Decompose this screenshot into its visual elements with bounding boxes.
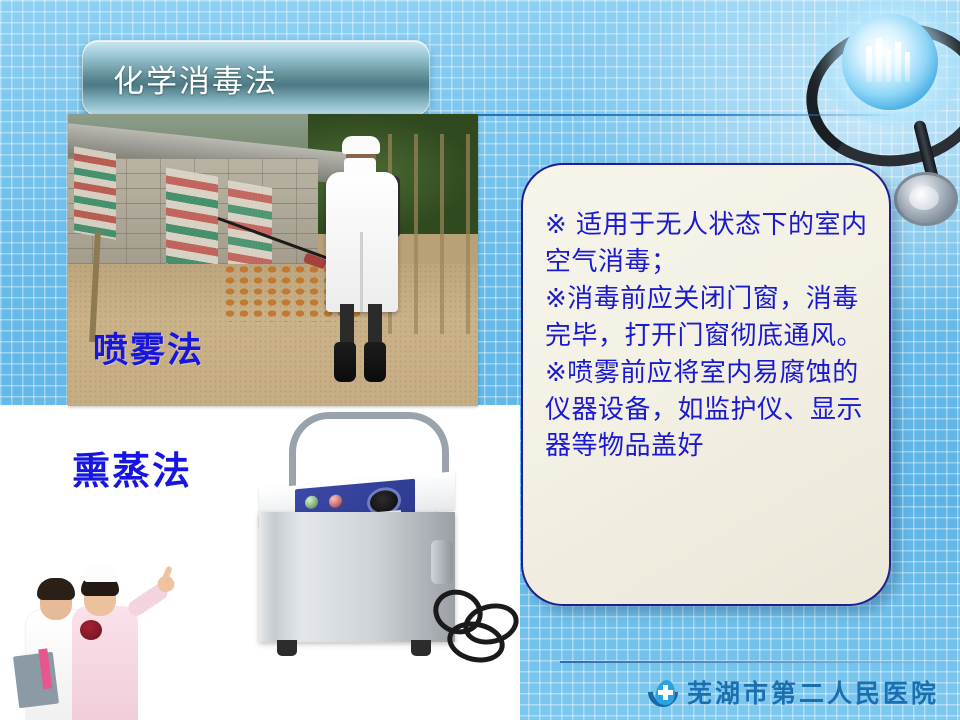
photo-worker-coat — [326, 172, 398, 312]
notes-text: ※ 适用于无人状态下的室内空气消毒； ※消毒前应关闭门窗，消毒完毕，打开门窗彻底… — [545, 207, 871, 465]
machine-foot-left — [277, 640, 297, 656]
photo-net-a — [74, 146, 116, 239]
spray-method-label: 喷雾法 — [93, 322, 204, 373]
notes-box: ※ 适用于无人状态下的室内空气消毒； ※消毒前应关闭门窗，消毒完毕，打开门窗彻底… — [521, 163, 891, 606]
photo-worker-boot-left — [334, 342, 356, 382]
title-banner: 化学消毒法 — [82, 40, 430, 116]
nurse-bow — [80, 620, 102, 640]
fumigation-machine-photo — [235, 408, 485, 678]
machine-foot-right — [411, 640, 431, 656]
machine-body — [259, 512, 455, 642]
hospital-name: 芜湖市第二人民医院 — [687, 674, 939, 710]
machine-power-cord — [431, 590, 517, 664]
nurses-photo — [8, 548, 188, 720]
photo-worker-boot-right — [364, 342, 386, 382]
page-title: 化学消毒法 — [83, 56, 278, 101]
photo-worker-cap — [342, 136, 380, 154]
slide-canvas: 化学消毒法 喷雾法 熏蒸法 — [0, 0, 960, 720]
logo-cross-horizontal — [658, 690, 673, 695]
nurse-cap — [84, 566, 118, 582]
doctor-hair — [37, 578, 75, 600]
divider-bottom — [560, 661, 960, 663]
photo-fence — [388, 134, 478, 334]
hospital-cross-logo-icon — [648, 677, 678, 707]
machine-knob-2 — [329, 494, 342, 508]
machine-knob-1 — [305, 495, 318, 509]
divider-top — [420, 114, 900, 116]
clipboard-icon — [13, 652, 59, 708]
machine-side-valve — [431, 540, 453, 584]
photo-worker-mask — [344, 158, 376, 176]
hospital-logo: 芜湖市第二人民医院 — [648, 674, 939, 710]
fumigation-method-label: 熏蒸法 — [72, 440, 192, 495]
